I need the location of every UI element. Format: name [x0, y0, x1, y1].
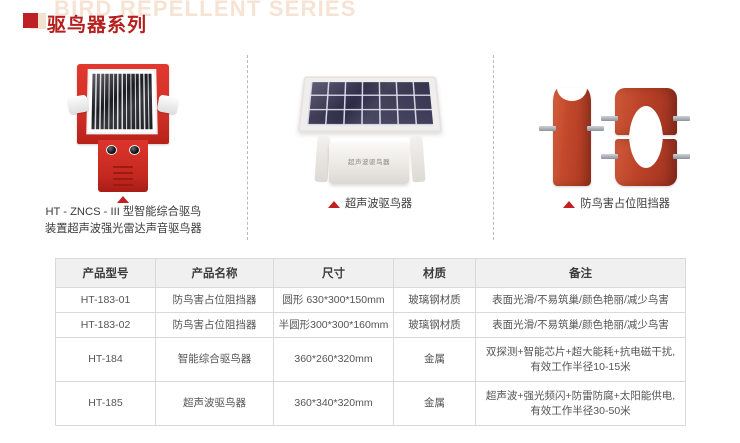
product-image-2: 超声波驱鸟器 [247, 48, 494, 196]
cell-size: 半圆形300*300*160mm [274, 313, 394, 338]
mounting-bolt [601, 116, 618, 121]
mounting-bolt [673, 116, 690, 121]
page-header: BIRD REPELLENT SERIES 驱鸟器系列 [0, 0, 740, 48]
sensor-lens-left [106, 145, 117, 155]
cell-size: 圆形 630*300*150mm [274, 288, 394, 313]
mounting-bolt [587, 126, 604, 131]
vent-slot [113, 172, 133, 174]
bird-blocker-pair-illustration [537, 78, 697, 196]
blocker-lower-shell [615, 139, 677, 186]
cell-model: HT-185 [56, 382, 156, 426]
product-caption-2: 超声波驱鸟器 [328, 196, 412, 213]
cell-size: 360*340*320mm [274, 382, 394, 426]
cell-note-line1: 超声波+强光频闪+防雷防腐+太阳能供电, [478, 389, 683, 404]
vent-slot [113, 178, 133, 180]
product-image-3 [493, 48, 740, 196]
cell-size: 360*260*320mm [274, 338, 394, 382]
tilted-solar-panel [298, 76, 443, 132]
product-card-2[interactable]: 超声波驱鸟器 超声波驱鸟器 [247, 48, 494, 248]
page-root: BIRD REPELLENT SERIES 驱鸟器系列 [0, 0, 740, 443]
table-header-row: 产品型号 产品名称 尺寸 材质 备注 [56, 259, 686, 288]
cell-note-line1: 表面光滑/不易筑巢/颜色艳丽/减少鸟害 [478, 293, 683, 308]
triangle-bullet-icon [117, 196, 129, 203]
product-caption-2-line1: 超声波驱鸟器 [345, 198, 412, 210]
table-head: 产品型号 产品名称 尺寸 材质 备注 [56, 259, 686, 288]
speaker-horn-left [67, 94, 90, 114]
product-caption-3-line1: 防鸟害占位阻挡器 [580, 198, 670, 210]
cell-note-line1: 双探测+智能芯片+超大能耗+抗电磁干扰, [478, 345, 683, 360]
red-solar-bird-repeller-illustration [61, 60, 185, 196]
cell-note-line1: 表面光滑/不易筑巢/颜色艳丽/减少鸟害 [478, 318, 683, 333]
cell-model: HT-183-02 [56, 313, 156, 338]
panel-glare [307, 82, 433, 125]
table-row: HT-183-02 防鸟害占位阻挡器 半圆形300*300*160mm 玻璃钢材… [56, 313, 686, 338]
vent-slot [113, 166, 133, 168]
cell-note: 超声波+强光频闪+防雷防腐+太阳能供电, 有效工作半径30-50米 [476, 382, 686, 426]
product-image-1 [0, 48, 247, 196]
mount-arm-right [409, 136, 425, 183]
cell-name: 防鸟害占位阻挡器 [156, 313, 274, 338]
cell-material: 玻璃钢材质 [394, 288, 476, 313]
col-header-model: 产品型号 [56, 259, 156, 288]
table-row: HT-185 超声波驱鸟器 360*340*320mm 金属 超声波+强光频闪+… [56, 382, 686, 426]
table-body: HT-183-01 防鸟害占位阻挡器 圆形 630*300*150mm 玻璃钢材… [56, 288, 686, 426]
cell-note-line2: 有效工作半径10-15米 [478, 360, 683, 375]
speaker-horn-right [157, 94, 180, 114]
table-row: HT-184 智能综合驱鸟器 360*260*320mm 金属 双探测+智能芯片… [56, 338, 686, 382]
col-header-material: 材质 [394, 259, 476, 288]
header-marker-front-square [23, 13, 38, 28]
triangle-bullet-icon [328, 201, 340, 208]
device-body-label: 超声波驱鸟器 [329, 156, 409, 166]
product-card-1[interactable]: HT - ZNCS - III 型智能综合驱鸟 装置超声波强光雷达声音驱鸟器 [0, 48, 247, 248]
col-header-note: 备注 [476, 259, 686, 288]
repeller-base-unit [98, 140, 148, 192]
cell-note-line2: 有效工作半径30-50米 [478, 404, 683, 419]
cell-material: 金属 [394, 338, 476, 382]
product-caption-1: HT - ZNCS - III 型智能综合驱鸟 装置超声波强光雷达声音驱鸟器 [45, 196, 202, 238]
sensor-lens-right [129, 145, 140, 155]
col-header-name: 产品名称 [156, 259, 274, 288]
cell-name: 防鸟害占位阻挡器 [156, 288, 274, 313]
solar-ultrasonic-repeller-illustration: 超声波驱鸟器 [295, 54, 445, 196]
product-caption-3: 防鸟害占位阻挡器 [563, 196, 670, 213]
blocker-half-round [553, 88, 591, 186]
mounting-bolt [673, 154, 690, 159]
cell-note: 双探测+智能芯片+超大能耗+抗电磁干扰, 有效工作半径10-15米 [476, 338, 686, 382]
controller-box: 超声波驱鸟器 [329, 142, 409, 184]
repeller-solar-panel [87, 69, 158, 134]
col-header-size: 尺寸 [274, 259, 394, 288]
mounting-bolt [539, 126, 556, 131]
panel-glare [92, 74, 153, 129]
product-showcase: HT - ZNCS - III 型智能综合驱鸟 装置超声波强光雷达声音驱鸟器 超… [0, 48, 740, 248]
page-title: 驱鸟器系列 [47, 10, 147, 37]
cell-model: HT-184 [56, 338, 156, 382]
cell-name: 智能综合驱鸟器 [156, 338, 274, 382]
product-card-3[interactable]: 防鸟害占位阻挡器 [493, 48, 740, 248]
cell-material: 金属 [394, 382, 476, 426]
triangle-bullet-icon [563, 201, 575, 208]
cell-material: 玻璃钢材质 [394, 313, 476, 338]
product-spec-table: 产品型号 产品名称 尺寸 材质 备注 HT-183-01 防鸟害占位阻挡器 圆形… [55, 258, 686, 426]
cell-note: 表面光滑/不易筑巢/颜色艳丽/减少鸟害 [476, 313, 686, 338]
vent-slot [113, 184, 133, 186]
mounting-bolt [601, 154, 618, 159]
cell-note: 表面光滑/不易筑巢/颜色艳丽/减少鸟害 [476, 288, 686, 313]
product-caption-1-line1: HT - ZNCS - III 型智能综合驱鸟 [45, 204, 202, 221]
product-caption-1-line2: 装置超声波强光雷达声音驱鸟器 [45, 221, 202, 238]
table-row: HT-183-01 防鸟害占位阻挡器 圆形 630*300*150mm 玻璃钢材… [56, 288, 686, 313]
cell-name: 超声波驱鸟器 [156, 382, 274, 426]
blocker-upper-shell [615, 88, 677, 135]
cell-model: HT-183-01 [56, 288, 156, 313]
blocker-bore-lower [629, 134, 663, 168]
